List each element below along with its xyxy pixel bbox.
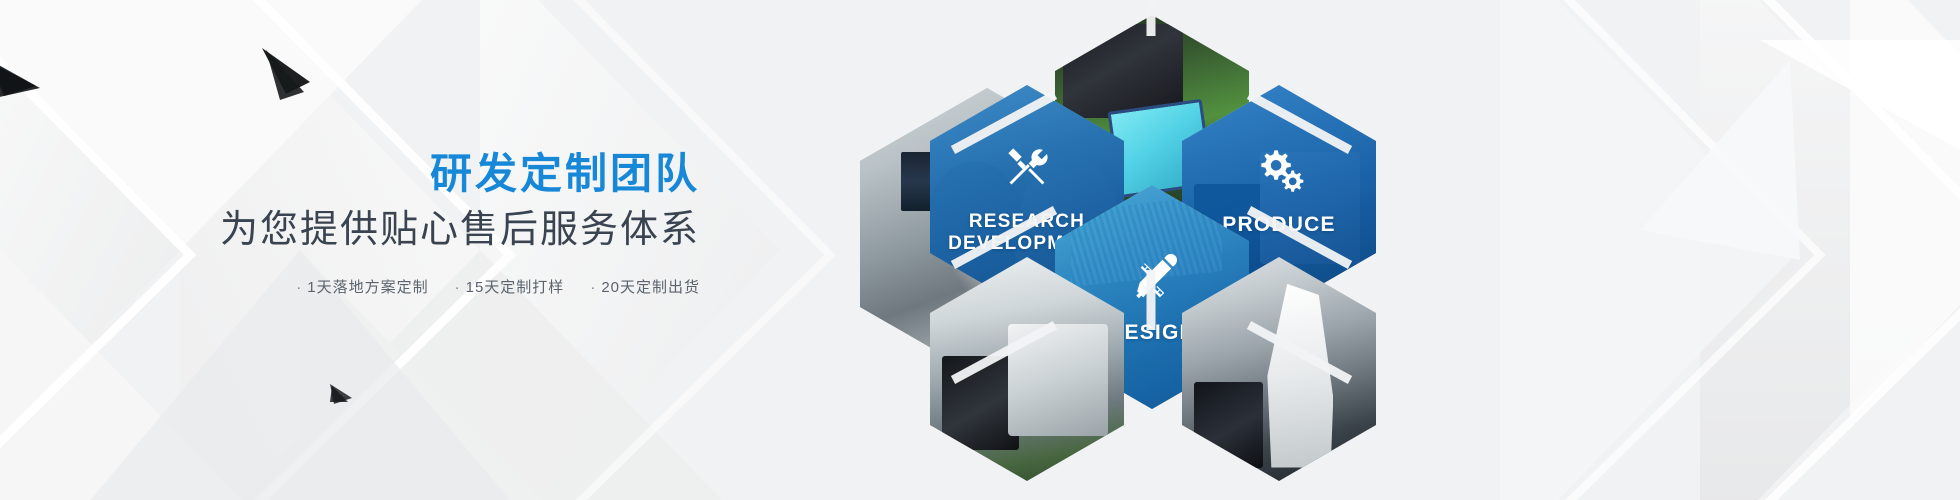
feature-list: ·1天落地方案定制 ·15天定制打样 ·20天定制出货 bbox=[140, 276, 700, 297]
black-arrow-left-2-icon bbox=[0, 58, 40, 100]
bullet-icon: · bbox=[590, 279, 596, 296]
headline-block: 研发定制团队 为您提供贴心售后服务体系 ·1天落地方案定制 ·15天定制打样 ·… bbox=[140, 148, 700, 297]
bullet-icon: · bbox=[455, 279, 461, 296]
feature-label: 15天定制打样 bbox=[466, 279, 565, 296]
feature-item-2: ·20天定制出货 bbox=[590, 276, 700, 297]
page-subtitle: 为您提供贴心售后服务体系 bbox=[140, 205, 700, 256]
wrench-screwdriver-icon bbox=[930, 141, 1124, 193]
feature-item-1: ·15天定制打样 bbox=[455, 276, 565, 297]
promo-banner: 研发定制团队 为您提供贴心售后服务体系 ·1天落地方案定制 ·15天定制打样 ·… bbox=[0, 0, 1960, 500]
gears-icon bbox=[1182, 143, 1376, 195]
page-title: 研发定制团队 bbox=[140, 148, 700, 201]
feature-label: 1天落地方案定制 bbox=[307, 279, 428, 296]
feature-label: 20天定制出货 bbox=[601, 279, 700, 296]
bullet-icon: · bbox=[296, 279, 302, 296]
feature-item-0: ·1天落地方案定制 bbox=[296, 276, 428, 297]
hexagon-cluster: RESEARCH DEVELOPMENT PRODU bbox=[880, 0, 1960, 500]
